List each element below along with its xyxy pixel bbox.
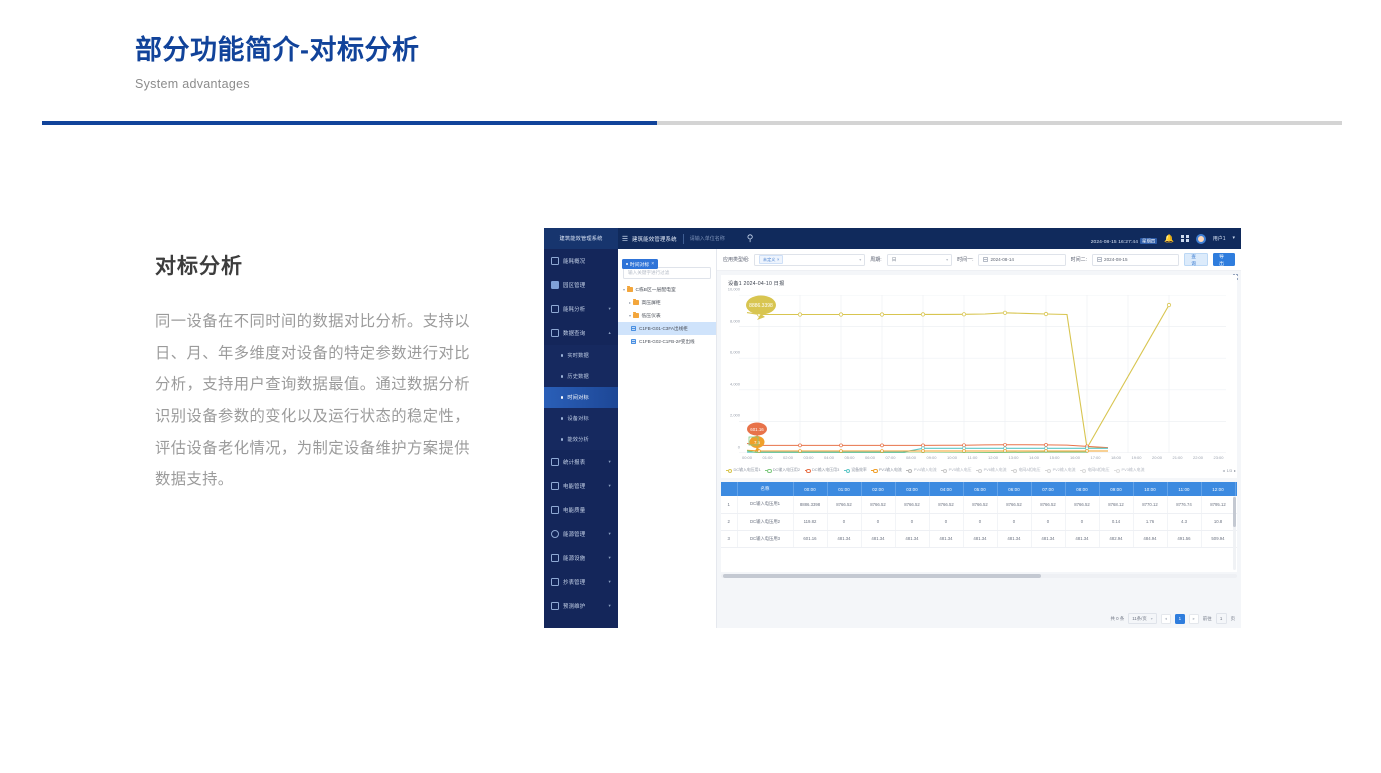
- legend-marker-icon: [906, 468, 912, 472]
- x-tick: 11:00: [968, 455, 978, 460]
- table-cell: 0.14: [1099, 513, 1133, 530]
- table-cell: 481.34: [1031, 530, 1065, 547]
- sidebar-item-realtime-data[interactable]: 实时数据: [544, 345, 618, 366]
- table-cell: 0: [929, 513, 963, 530]
- header-divider: [42, 121, 1342, 125]
- legend-item[interactable]: 设备效率: [844, 467, 867, 473]
- bullet-icon: [561, 417, 563, 419]
- analysis-icon: [551, 305, 559, 313]
- sidebar-item-power-management[interactable]: 电能管理 ▾: [544, 474, 618, 498]
- weekday-badge: 星期四: [1140, 238, 1157, 244]
- chevron-down-icon: ▾: [609, 603, 611, 609]
- table-cell: 8776.74: [1167, 496, 1201, 513]
- topbar-right: 2024-08-15 16:27:44星期四 🔔 用户1 ▾: [1091, 230, 1241, 248]
- app-type-select[interactable]: 未定义× ▾: [754, 254, 865, 266]
- legend-marker-icon: [1011, 468, 1017, 472]
- query-icon: [551, 329, 559, 337]
- line-chart-svg: 8886.3398 601.16 7.5: [739, 295, 1226, 453]
- table-cell: 8886.3398: [793, 496, 827, 513]
- goto-page-input[interactable]: 1: [1216, 613, 1227, 624]
- app-type-tag[interactable]: 未定义×: [759, 255, 783, 264]
- device-tree-panel: 时间对标 × 输入关键字进行过滤 ▾ C栋B区一层配电室 ▸ 高压屏柜 ▾ 低压…: [618, 249, 717, 628]
- legend-item[interactable]: 电网B相电压: [1080, 467, 1110, 473]
- time2-value: 2024-08-15: [1104, 257, 1128, 262]
- table-cell: 8766.52: [963, 496, 997, 513]
- bell-icon[interactable]: 🔔: [1164, 235, 1174, 243]
- user-name[interactable]: 用户1: [1213, 235, 1226, 242]
- y-axis-labels: 0 2,000 4,000 6,000 8,000 10,000: [721, 289, 741, 459]
- legend-marker-icon: [726, 468, 732, 472]
- page-size-select[interactable]: 11条/页 ▾: [1128, 613, 1157, 624]
- sidebar: 能耗概况 园区管理 能耗分析 ▾ 数据查询 ▴ 实时数据 历史数据: [544, 249, 618, 628]
- x-tick: 00:00: [742, 455, 752, 460]
- table-cell: 3: [721, 530, 737, 547]
- sidebar-item-label: 园区管理: [563, 281, 585, 289]
- table-cell: 10.8: [1201, 513, 1235, 530]
- legend-label: 电网A相电压: [1019, 467, 1041, 473]
- sidebar-item-report[interactable]: 统计报表 ▾: [544, 450, 618, 474]
- sidebar-item-energy-facility[interactable]: 能源设施 ▾: [544, 546, 618, 570]
- legend-label: DC输入电压用1: [734, 467, 761, 473]
- legend-item[interactable]: DC输入电压用2: [765, 467, 800, 473]
- tree-node-label: C栋B区一层配电室: [636, 286, 676, 293]
- legend-marker-icon: [1114, 468, 1120, 472]
- legend-label: DC输入电压用3: [812, 467, 839, 473]
- clock-icon: [551, 530, 559, 538]
- legend-next-icon[interactable]: ▸: [1234, 468, 1236, 473]
- table-header-cell: 01:00: [827, 482, 861, 496]
- export-button[interactable]: 导出: [1213, 253, 1235, 266]
- close-icon[interactable]: ×: [777, 257, 779, 262]
- legend-item[interactable]: PV3输入电流: [1114, 467, 1144, 473]
- table-cell: DC输入电压用2: [737, 513, 793, 530]
- time2-label: 时间二:: [1071, 256, 1087, 263]
- sidebar-item-label: 预测维护: [563, 602, 585, 610]
- divider-track: [657, 121, 1342, 125]
- sidebar-item-data-query[interactable]: 数据查询 ▴: [544, 321, 618, 345]
- tree-node-label: 高压屏柜: [642, 299, 661, 306]
- chart-legend: DC输入电压用1 DC输入电压用2 DC输入电压用3 设备效率 PV1输入电流 …: [726, 465, 1236, 475]
- page-title: 部分功能简介-对标分析: [135, 36, 420, 66]
- tree-node-label: C1FB-G02-C1FB-2#变出线: [639, 339, 695, 345]
- close-icon[interactable]: ×: [651, 261, 654, 267]
- table-cell: 0: [861, 513, 895, 530]
- prev-page-button[interactable]: ◂: [1161, 614, 1171, 624]
- x-tick: 13:00: [1008, 455, 1018, 460]
- table-cell: 481.34: [963, 530, 997, 547]
- data-table: 名称 00:00 01:00 02:00 03:00 04:00 05:00 0…: [721, 482, 1237, 548]
- legend-label: PV6输入电流: [984, 467, 1007, 473]
- legend-pager[interactable]: ◂ 1/3 ▸: [1223, 468, 1236, 473]
- folder-icon: [627, 287, 633, 292]
- table-header-cell: 03:00: [895, 482, 929, 496]
- system-name: 建筑能效管理系统: [632, 235, 677, 243]
- tree-node-root[interactable]: ▾ C栋B区一层配电室: [618, 283, 716, 296]
- sidebar-item-label: 电能管理: [563, 482, 585, 490]
- x-tick: 03:00: [803, 455, 813, 460]
- meter-icon: [631, 326, 636, 331]
- table-header-cell: 06:00: [997, 482, 1031, 496]
- calendar-icon: [983, 257, 988, 262]
- period-label: 周期:: [870, 256, 881, 263]
- search-input[interactable]: 请输入单位名称: [690, 235, 725, 242]
- table-row[interactable]: 3 DC输入电压用3 601.16 481.34 481.34 481.34 4…: [721, 530, 1237, 547]
- sidebar-item-park[interactable]: 园区管理: [544, 273, 618, 297]
- legend-label: DC输入电压用2: [773, 467, 800, 473]
- legend-item[interactable]: 电网A相电压: [1011, 467, 1041, 473]
- sidebar-item-label: 设备对标: [567, 415, 589, 422]
- table-cell: 481.34: [827, 530, 861, 547]
- table-cell: 0: [1031, 513, 1065, 530]
- table-cell: 8766.52: [929, 496, 963, 513]
- search-icon[interactable]: ⚲: [747, 233, 754, 244]
- table-horizontal-scrollbar-track: [721, 574, 1237, 578]
- bullet-icon: [561, 354, 563, 356]
- quality-icon: [551, 506, 559, 514]
- data-table-wrap: 名称 00:00 01:00 02:00 03:00 04:00 05:00 0…: [721, 482, 1237, 572]
- legend-page-indicator: 1/3: [1227, 468, 1232, 473]
- next-page-button[interactable]: ▸: [1189, 614, 1199, 624]
- tree-node-label: 低压仪表: [642, 312, 661, 319]
- x-tick: 19:00: [1131, 455, 1141, 460]
- app-topbar: 建筑能效管理系统 ☰ 建筑能效管理系统 请输入单位名称 ⚲ 2024-08-15…: [544, 228, 1241, 249]
- avatar[interactable]: [1196, 234, 1206, 244]
- sidebar-item-energy-management[interactable]: 能源管理 ▾: [544, 522, 618, 546]
- datetime-text: 2024-08-15 16:27:44: [1091, 240, 1138, 245]
- x-tick: 14:00: [1029, 455, 1039, 460]
- legend-label: 设备效率: [851, 467, 867, 473]
- folder-icon: [633, 300, 639, 305]
- sidebar-item-analysis[interactable]: 能耗分析 ▾: [544, 297, 618, 321]
- sidebar-item-label: 能效分析: [567, 436, 589, 443]
- table-cell: 8766.52: [997, 496, 1031, 513]
- calendar-icon: [1097, 257, 1102, 262]
- table-header-cell: 08:00: [1065, 482, 1099, 496]
- table-header-cell: 00:00: [793, 482, 827, 496]
- table-cell: 481.34: [895, 530, 929, 547]
- sidebar-item-label: 时间对标: [567, 394, 589, 401]
- bullet-icon: [561, 396, 563, 398]
- tab-label: 时间对标: [630, 261, 649, 268]
- page-subtitle: System advantages: [135, 77, 420, 91]
- table-cell: 0: [827, 513, 861, 530]
- table-header-cell: 13:00: [1235, 482, 1237, 496]
- legend-marker-icon: [871, 468, 877, 472]
- series-dc-voltage-1: [747, 303, 1171, 449]
- chevron-down-icon: ▾: [609, 531, 611, 537]
- tree-node-label: C1FB-G01-C3FA出线柜: [639, 326, 688, 332]
- x-tick: 06:00: [865, 455, 875, 460]
- annotation-efficiency: 7.5: [750, 436, 765, 452]
- table-cell: 4.3: [1167, 513, 1201, 530]
- legend-label: PV3输入电流: [1122, 467, 1145, 473]
- x-tick: 18:00: [1111, 455, 1121, 460]
- table-cell: DC输入电压用3: [737, 530, 793, 547]
- table-header-row: 名称 00:00 01:00 02:00 03:00 04:00 05:00 0…: [721, 482, 1237, 496]
- chevron-down-icon[interactable]: ▾: [1232, 236, 1235, 241]
- meter-icon: [631, 339, 636, 344]
- legend-label: PV2输入电流: [1053, 467, 1076, 473]
- x-tick: 12:00: [988, 455, 998, 460]
- section-heading: 对标分析: [155, 250, 470, 280]
- table-cell: DC输入电压用1: [737, 496, 793, 513]
- table-header-cell: 名称: [737, 482, 793, 496]
- main-content: 应用类型组: 未定义× ▾ 周期: 日 ▾ 时间一: 2024-08-14 时间…: [717, 249, 1241, 628]
- overview-icon: [551, 257, 559, 265]
- tree-node-lv[interactable]: ▾ 低压仪表: [618, 309, 716, 322]
- legend-marker-icon: [805, 468, 811, 472]
- sidebar-item-device-benchmark[interactable]: 设备对标: [544, 408, 618, 429]
- x-tick: 16:00: [1070, 455, 1080, 460]
- page-size-value: 11条/页: [1132, 616, 1147, 622]
- table-header-cell: 05:00: [963, 482, 997, 496]
- legend-marker-icon: [941, 468, 947, 472]
- app-type-label: 应用类型组:: [723, 256, 749, 263]
- sidebar-item-efficiency-analysis[interactable]: 能效分析: [544, 429, 618, 450]
- x-tick: 22:00: [1193, 455, 1203, 460]
- table-cell: 484.94: [1133, 530, 1167, 547]
- legend-marker-icon: [844, 468, 850, 472]
- tree-filter-placeholder: 输入关键字进行过滤: [628, 270, 669, 276]
- annotation-dc1: 8886.3398: [746, 296, 776, 321]
- sidebar-item-overview[interactable]: 能耗概况: [544, 249, 618, 273]
- sidebar-item-label: 能源设施: [563, 554, 585, 562]
- table-cell: 0: [895, 513, 929, 530]
- grid-lines: [739, 295, 1226, 453]
- menu-toggle-icon[interactable]: ☰: [618, 235, 632, 243]
- table-cell: 8766.52: [895, 496, 929, 513]
- sidebar-item-label: 电能质量: [563, 506, 585, 514]
- legend-item[interactable]: DC输入电压用1: [726, 467, 761, 473]
- table-cell: 8766.52: [827, 496, 861, 513]
- table-cell: 8766.52: [861, 496, 895, 513]
- legend-item[interactable]: PV6输入电流: [976, 467, 1006, 473]
- x-axis-labels: 00:00 01:00 02:00 03:00 04:00 05:00 06:0…: [739, 455, 1234, 463]
- table-cell: 601.16: [793, 530, 827, 547]
- tab-bar: 时间对标 ×: [618, 249, 716, 263]
- filter-toolbar: 应用类型组: 未定义× ▾ 周期: 日 ▾ 时间一: 2024-08-14 时间…: [717, 249, 1241, 271]
- sidebar-item-label: 抄表管理: [563, 578, 585, 586]
- app-type-value: 未定义: [763, 257, 776, 263]
- goto-unit: 页: [1231, 616, 1235, 622]
- table-cell: 481.34: [997, 530, 1031, 547]
- legend-marker-icon: [976, 468, 982, 472]
- svg-text:7.5: 7.5: [754, 440, 761, 445]
- app-screenshot: 建筑能效管理系统 ☰ 建筑能效管理系统 请输入单位名称 ⚲ 2024-08-15…: [544, 228, 1241, 628]
- chevron-down-icon: ▾: [609, 306, 611, 312]
- table-cell: 509.94: [1201, 530, 1235, 547]
- sidebar-item-label: 统计报表: [563, 458, 585, 466]
- table-cell: 0: [963, 513, 997, 530]
- table-cell: 8766.52: [1065, 496, 1099, 513]
- svg-text:601.16: 601.16: [750, 427, 764, 432]
- x-tick: 09:00: [926, 455, 936, 460]
- divider-accent: [42, 121, 657, 125]
- x-tick: 21:00: [1172, 455, 1182, 460]
- fullscreen-icon[interactable]: [1181, 235, 1189, 243]
- sidebar-item-label: 实时数据: [567, 352, 589, 359]
- grid-icon: [551, 281, 559, 289]
- sidebar-item-label: 能耗概况: [563, 257, 585, 265]
- svg-text:8886.3398: 8886.3398: [749, 303, 773, 309]
- table-row[interactable]: 1 DC输入电压用1 8886.3398 8766.52 8766.52 876…: [721, 496, 1237, 513]
- x-tick: 15:00: [1049, 455, 1059, 460]
- period-value: 日: [892, 257, 897, 263]
- table-vertical-scrollbar[interactable]: [1233, 497, 1236, 527]
- x-tick: 08:00: [906, 455, 916, 460]
- legend-item[interactable]: PV1输入电流: [871, 467, 901, 473]
- legend-marker-icon: [765, 468, 771, 472]
- series-dc-voltage-3: [747, 443, 1108, 448]
- table-header-cell: [721, 482, 737, 496]
- slide-header: 部分功能简介-对标分析 System advantages: [135, 36, 420, 91]
- sidebar-item-meter-reading[interactable]: 抄表管理 ▾: [544, 570, 618, 594]
- x-tick: 07:00: [885, 455, 895, 460]
- table-cell: 0: [997, 513, 1031, 530]
- table-cell: 481.34: [929, 530, 963, 547]
- table-header-cell: 09:00: [1099, 482, 1133, 496]
- chevron-down-icon: ▾: [609, 459, 611, 465]
- topbar-datetime: 2024-08-15 16:27:44星期四: [1091, 230, 1158, 248]
- tab-time-benchmark[interactable]: 时间对标 ×: [622, 259, 658, 269]
- chart-title: 设备1 2024-04-10 日报: [728, 280, 1230, 287]
- tree-node-hv[interactable]: ▸ 高压屏柜: [618, 296, 716, 309]
- chevron-down-icon: ▾: [946, 257, 948, 262]
- total-count-label: 共 0 条: [1111, 616, 1125, 622]
- app-logo: 建筑能效管理系统: [544, 228, 618, 249]
- table-cell: 2: [721, 513, 737, 530]
- chart-plot-area: 8886.3398 601.16 7.5: [739, 295, 1226, 453]
- tree-nodes: ▾ C栋B区一层配电室 ▸ 高压屏柜 ▾ 低压仪表 C1FB-G01-C3FA出…: [618, 283, 716, 348]
- bullet-icon: [561, 375, 563, 377]
- chevron-down-icon: ▾: [1151, 616, 1153, 621]
- table-header-cell: 04:00: [929, 482, 963, 496]
- bullet-icon: [561, 438, 563, 440]
- description-block: 对标分析 同一设备在不同时间的数据对比分析。支持以日、月、年多维度对设备的特定参…: [155, 250, 470, 496]
- time1-date-input[interactable]: 2024-08-14: [978, 254, 1065, 266]
- chevron-down-icon: ▾: [609, 555, 611, 561]
- table-cell: 8770.12: [1133, 496, 1167, 513]
- legend-label: PV5输入电压: [949, 467, 972, 473]
- legend-item[interactable]: DC输入电压用3: [805, 467, 840, 473]
- sidebar-item-label: 能源管理: [563, 530, 585, 538]
- legend-label: PV1输入电流: [879, 467, 902, 473]
- table-cell: 119.82: [793, 513, 827, 530]
- monitor-icon: [551, 602, 559, 610]
- legend-item[interactable]: PV2输入电流: [1045, 467, 1075, 473]
- tree-leaf-c1fb2[interactable]: C1FB-G02-C1FB-2#变出线: [618, 335, 716, 348]
- table-header-cell: 12:00: [1201, 482, 1235, 496]
- meter-icon: [551, 578, 559, 586]
- table-cell: 481.34: [1065, 530, 1099, 547]
- table-cell: 481.34: [861, 530, 895, 547]
- sidebar-item-time-benchmark[interactable]: 时间对标: [544, 387, 618, 408]
- table-cell: 482.94: [1099, 530, 1133, 547]
- legend-marker-icon: [1045, 468, 1051, 472]
- chevron-up-icon: ▴: [609, 330, 611, 336]
- chevron-down-icon: ▾: [609, 483, 611, 489]
- table-row[interactable]: 2 DC输入电压用2 119.82 0 0 0 0 0 0 0 0 0.14 1…: [721, 513, 1237, 530]
- legend-item[interactable]: PV5输入电压: [941, 467, 971, 473]
- sidebar-item-label: 历史数据: [567, 373, 589, 380]
- sidebar-item-predictive-maintenance[interactable]: 预测维护 ▾: [544, 594, 618, 618]
- table-cell: 1.76: [1133, 513, 1167, 530]
- legend-marker-icon: [1080, 468, 1086, 472]
- legend-item[interactable]: PV4输入电流: [906, 467, 936, 473]
- sidebar-submenu: 实时数据 历史数据 时间对标 设备对标 能效分析: [544, 345, 618, 450]
- folder-icon: [633, 313, 639, 318]
- x-tick: 17:00: [1090, 455, 1100, 460]
- x-tick: 05:00: [844, 455, 854, 460]
- goto-label: 前往: [1203, 616, 1212, 622]
- sidebar-item-history-data[interactable]: 历史数据: [544, 366, 618, 387]
- period-select[interactable]: 日 ▾: [887, 254, 952, 266]
- table-cell: 0: [1065, 513, 1099, 530]
- chart-card: 设备1 2024-04-10 日报 0 2,000 4,000 6,000 8,…: [721, 275, 1237, 478]
- time2-date-input[interactable]: 2024-08-15: [1092, 254, 1179, 266]
- query-button[interactable]: 查询: [1184, 253, 1208, 266]
- table-header-cell: 02:00: [861, 482, 895, 496]
- section-body: 同一设备在不同时间的数据对比分析。支持以日、月、年多维度对设备的特定参数进行对比…: [155, 306, 470, 496]
- y-tick: 10,000: [728, 287, 740, 292]
- table-cell: 8766.52: [1031, 496, 1065, 513]
- x-tick: 10:00: [947, 455, 957, 460]
- table-cell: 491.56: [1167, 530, 1201, 547]
- sidebar-item-power-quality[interactable]: 电能质量: [544, 498, 618, 522]
- table-header-cell: 10:00: [1133, 482, 1167, 496]
- legend-label: PV4输入电流: [914, 467, 937, 473]
- x-tick: 20:00: [1152, 455, 1162, 460]
- legend-prev-icon[interactable]: ◂: [1223, 468, 1225, 473]
- x-tick: 23:00: [1213, 455, 1223, 460]
- table-header-cell: 11:00: [1167, 482, 1201, 496]
- time1-value: 2024-08-14: [990, 257, 1014, 262]
- topbar-divider: [683, 234, 684, 244]
- x-tick: 01:00: [762, 455, 772, 460]
- sidebar-item-label: 数据查询: [563, 329, 585, 337]
- power-icon: [551, 482, 559, 490]
- x-tick: 02:00: [783, 455, 793, 460]
- sidebar-item-label: 能耗分析: [563, 305, 585, 313]
- x-tick: 04:00: [824, 455, 834, 460]
- table-header-cell: 07:00: [1031, 482, 1065, 496]
- chevron-down-icon: ▾: [859, 257, 861, 262]
- table-horizontal-scrollbar[interactable]: [723, 574, 1041, 578]
- pagination: 共 0 条 11条/页 ▾ ◂ 1 ▸ 前往 1 页: [1111, 613, 1235, 624]
- table-cell: 8795.12: [1201, 496, 1235, 513]
- table-cell: 8768.12: [1099, 496, 1133, 513]
- time1-label: 时间一:: [957, 256, 973, 263]
- dot-icon: [626, 263, 628, 265]
- page-number-1[interactable]: 1: [1175, 614, 1185, 624]
- report-icon: [551, 458, 559, 466]
- table-cell: 1: [721, 496, 737, 513]
- tree-leaf-c3fa[interactable]: C1FB-G01-C3FA出线柜: [618, 322, 716, 335]
- legend-label: 电网B相电压: [1087, 467, 1109, 473]
- bank-icon: [551, 554, 559, 562]
- chevron-down-icon: ▾: [609, 579, 611, 585]
